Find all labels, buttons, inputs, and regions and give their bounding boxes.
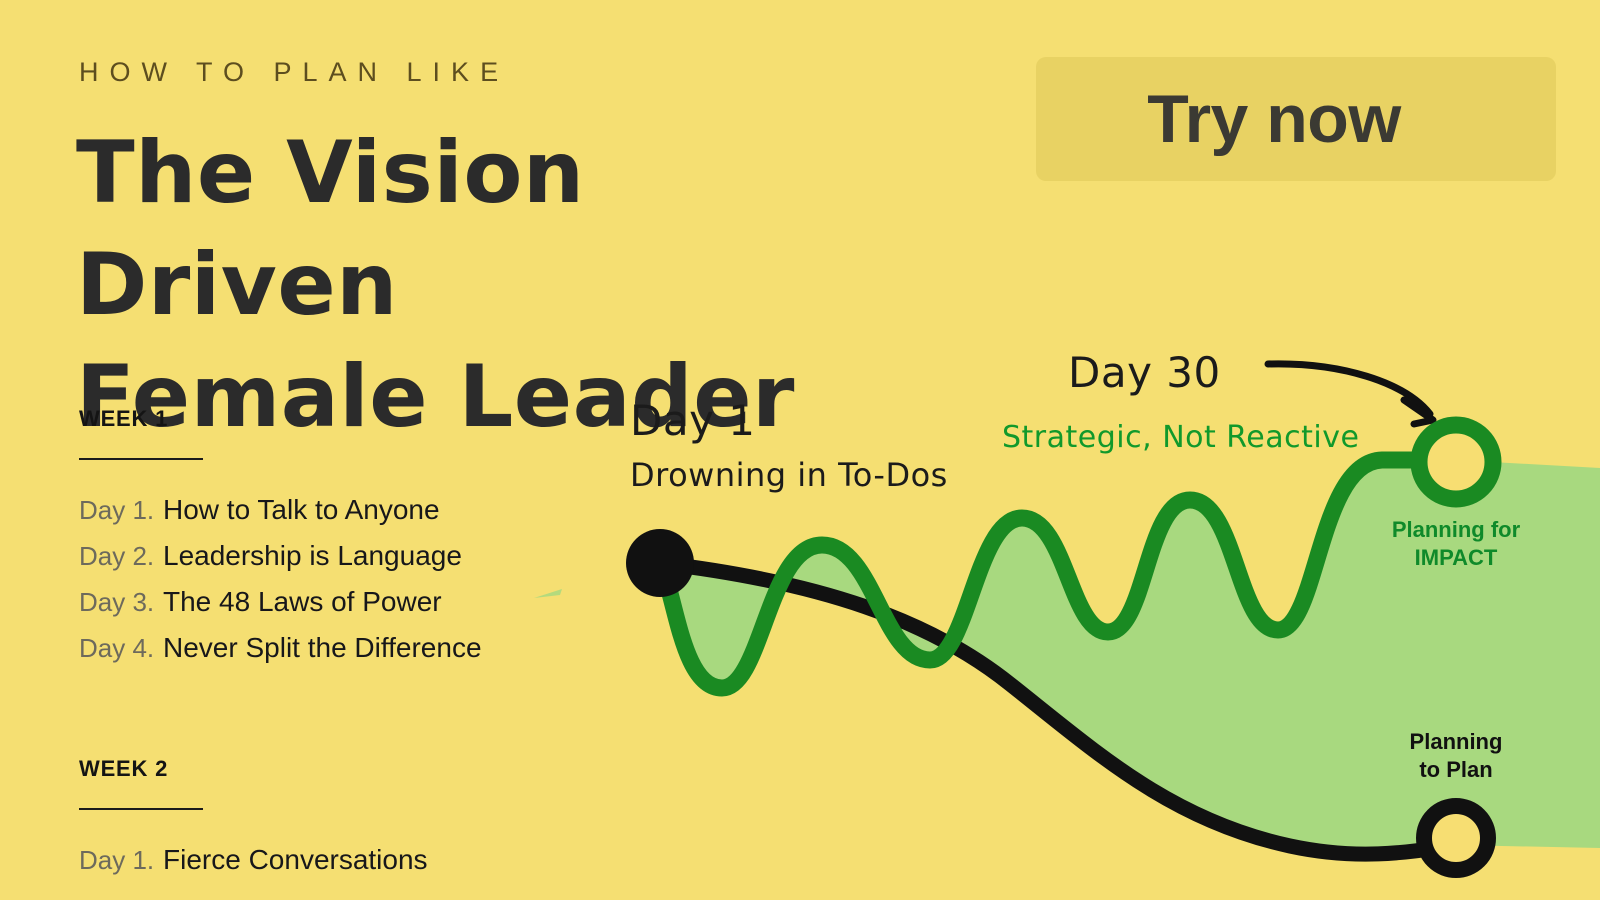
eyebrow-text: HOW TO PLAN LIKE bbox=[79, 57, 509, 88]
list-item[interactable]: Day 1. How to Talk to Anyone bbox=[79, 494, 482, 526]
journey-end-subtitle: Strategic, Not Reactive bbox=[1002, 420, 1359, 455]
day-title: Leadership is Language bbox=[163, 540, 462, 572]
journey-start-subtitle: Drowning in To-Dos bbox=[630, 456, 948, 494]
try-now-button[interactable]: Try now bbox=[1036, 57, 1556, 181]
plan-node-marker bbox=[1424, 806, 1488, 870]
page-title: The Vision Driven Female Leader bbox=[76, 118, 916, 453]
day-title: The 48 Laws of Power bbox=[163, 586, 442, 618]
day-number: Day 4. bbox=[79, 633, 163, 664]
week-2-block: WEEK 2 Day 1. Fierce Conversations bbox=[79, 756, 428, 890]
poster-canvas: Try now HOW TO PLAN LIKE The Vision Driv… bbox=[0, 0, 1600, 900]
day-number: Day 2. bbox=[79, 541, 163, 572]
day-title: How to Talk to Anyone bbox=[163, 494, 440, 526]
list-item[interactable]: Day 1. Fierce Conversations bbox=[79, 844, 428, 876]
day-number: Day 1. bbox=[79, 495, 163, 526]
journey-end-title: Day 30 bbox=[1068, 348, 1221, 397]
day-title: Fierce Conversations bbox=[163, 844, 428, 876]
week-1-block: WEEK 1 Day 1. How to Talk to Anyone Day … bbox=[79, 406, 482, 678]
week-2-title: WEEK 2 bbox=[79, 756, 428, 782]
headline-line-1: The Vision Driven bbox=[76, 123, 585, 335]
week-1-divider bbox=[79, 458, 203, 460]
week-1-title: WEEK 1 bbox=[79, 406, 482, 432]
day-title: Never Split the Difference bbox=[163, 632, 482, 664]
curved-arrow-icon bbox=[1268, 364, 1433, 424]
try-now-label: Try now bbox=[1147, 80, 1400, 158]
green-sliver-accent bbox=[534, 589, 562, 598]
week-2-day-list: Day 1. Fierce Conversations bbox=[79, 844, 428, 876]
impact-node-label: Planning for IMPACT bbox=[1356, 516, 1556, 572]
day-number: Day 3. bbox=[79, 587, 163, 618]
journey-start-title: Day 1 bbox=[630, 396, 756, 445]
list-item[interactable]: Day 4. Never Split the Difference bbox=[79, 632, 482, 664]
day-number: Day 1. bbox=[79, 845, 163, 876]
week-2-divider bbox=[79, 808, 203, 810]
list-item[interactable]: Day 3. The 48 Laws of Power bbox=[79, 586, 482, 618]
start-node-dot bbox=[626, 529, 694, 597]
week-1-day-list: Day 1. How to Talk to Anyone Day 2. Lead… bbox=[79, 494, 482, 664]
list-item[interactable]: Day 2. Leadership is Language bbox=[79, 540, 482, 572]
impact-node-marker bbox=[1419, 425, 1493, 499]
plan-node-label: Planning to Plan bbox=[1356, 728, 1556, 784]
